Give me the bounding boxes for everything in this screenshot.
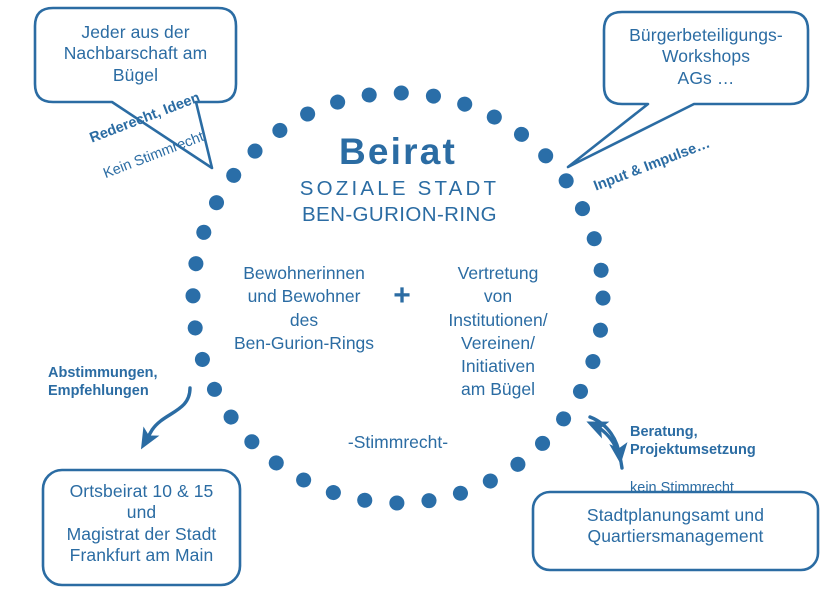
arrow-beratung-double — [590, 417, 622, 468]
edge-label-beratung: Beratung, Projektumsetzung kein Stimmrec… — [630, 403, 810, 517]
page-title: Beirat — [258, 129, 538, 174]
plus-icon: + — [388, 278, 416, 315]
speech-bubble-top-left-text: Jeder aus der Nachbarschaft am Bügel — [40, 22, 231, 86]
box-bottom-left-text: Ortsbeirat 10 & 15 und Magistrat der Sta… — [45, 481, 238, 566]
subtitle-soziale-stadt: SOZIALE STADT — [258, 176, 541, 201]
members-residents-column: Bewohnerinnen und Bewohner des Ben-Gurio… — [216, 262, 392, 355]
edge-label-beratung-regular: kein Stimmrecht — [630, 479, 810, 497]
box-bottom-right-text: Stadtplanungsamt und Quartiersmanagement — [536, 505, 815, 548]
edge-label-beratung-bold: Beratung, Projektumsetzung — [630, 423, 810, 459]
voting-right-note: -Stimmrecht- — [308, 432, 488, 453]
diagram-canvas: Jeder aus der Nachbarschaft am Bügel Bür… — [0, 0, 820, 600]
speech-bubble-top-right-text: Bürgerbeteiligungs- Workshops AGs … — [606, 25, 806, 89]
edge-label-abstimmungen: Abstimmungen, Empfehlungen — [48, 364, 198, 400]
members-institutions-column: Vertretung von Institutionen/ Vereinen/ … — [414, 262, 582, 402]
subtitle-ben-gurion-ring: BEN-GURION-RING — [258, 202, 541, 227]
